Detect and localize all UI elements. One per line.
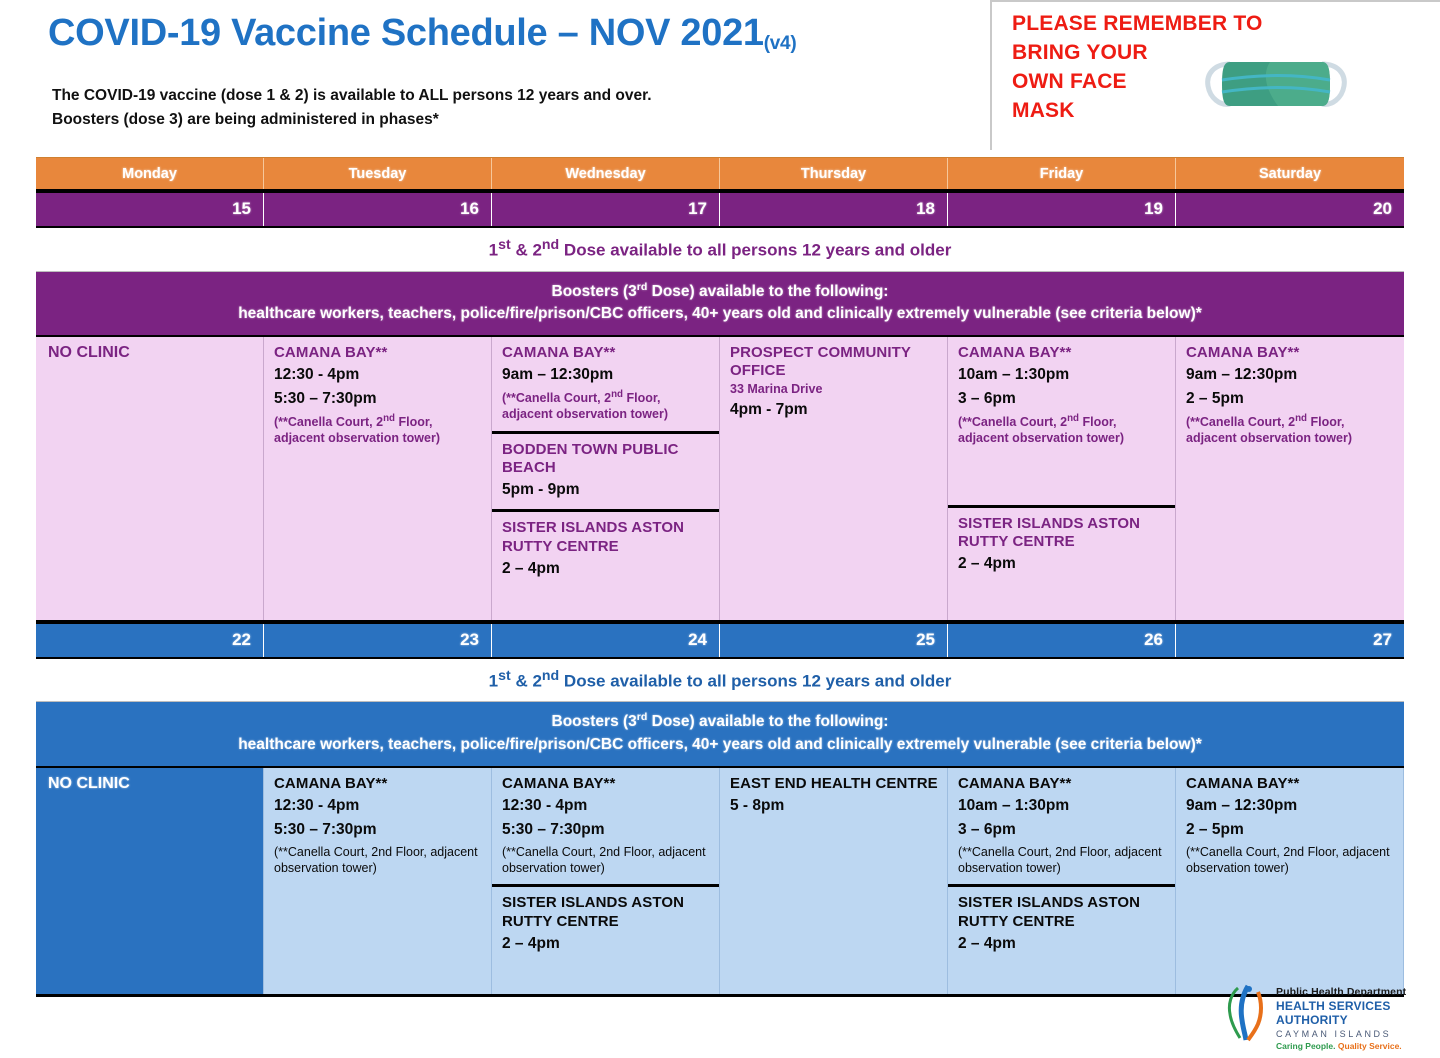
schedule-cell-tue-23[interactable]: CAMANA BAY** 12:30 - 4pm 5:30 – 7:30pm (… [264, 768, 492, 994]
clinic-venue: SISTER ISLANDS ASTON RUTTY CENTRE [502, 519, 710, 556]
schedule-cell-sat-27[interactable]: CAMANA BAY** 9am – 12:30pm 2 – 5pm (**Ca… [1176, 768, 1404, 994]
clinic-note: (**Canella Court, 2nd Floor, adjacent ob… [502, 844, 710, 877]
date-cell-25[interactable]: 25 [720, 624, 948, 657]
hsa-logo-line-1: Public Health Department [1276, 986, 1418, 998]
week-1-date-row: 15 16 17 18 19 20 [36, 189, 1404, 226]
clinic-venue: CAMANA BAY** [958, 344, 1166, 362]
week-2-booster-line-2: healthcare workers, teachers, police/fir… [46, 734, 1394, 756]
hsa-logo-text: Public Health Department HEALTH SERVICES… [1276, 986, 1418, 1051]
clinic-block: CAMANA BAY** 9am – 12:30pm 2 – 5pm (**Ca… [1176, 768, 1403, 994]
clinic-block: SISTER ISLANDS ASTON RUTTY CENTRE 2 – 4p… [948, 884, 1175, 993]
page-title-version: (v4) [764, 33, 797, 54]
clinic-venue: CAMANA BAY** [274, 344, 482, 362]
clinic-time: 2 – 5pm [1186, 388, 1395, 410]
week-1-content-row: NO CLINIC CAMANA BAY** 12:30 - 4pm 5:30 … [36, 335, 1404, 620]
clinic-time: 2 – 4pm [958, 933, 1166, 955]
date-cell-19[interactable]: 19 [948, 193, 1176, 226]
clinic-venue: CAMANA BAY** [1186, 344, 1395, 362]
clinic-time: 12:30 - 4pm [274, 364, 482, 386]
clinic-venue: SISTER ISLANDS ASTON RUTTY CENTRE [958, 515, 1166, 552]
subtitle-line-2: Boosters (dose 3) are being administered… [52, 108, 652, 132]
clinic-note: (**Canella Court, 2nd Floor, adjacent ob… [274, 844, 482, 877]
week-1-dose-banner: 1st & 2nd Dose available to all persons … [36, 226, 1404, 272]
clinic-note: (**Canella Court, 2nd Floor, adjacent ob… [958, 844, 1166, 877]
day-header-saturday: Saturday [1176, 158, 1404, 189]
clinic-block: CAMANA BAY** 12:30 - 4pm 5:30 – 7:30pm (… [264, 337, 491, 620]
week-2-content-row: NO CLINIC CAMANA BAY** 12:30 - 4pm 5:30 … [36, 766, 1404, 994]
week-1-booster-banner: Boosters (3rd Dose) available to the fol… [36, 272, 1404, 335]
clinic-note: (**Canella Court, 2nd Floor, adjacent ob… [274, 413, 482, 447]
day-header-friday: Friday [948, 158, 1176, 189]
schedule-cell-wed-17[interactable]: CAMANA BAY** 9am – 12:30pm (**Canella Co… [492, 337, 720, 620]
week-1-booster-line-2: healthcare workers, teachers, police/fir… [46, 303, 1394, 325]
page-subtitle: The COVID-19 vaccine (dose 1 & 2) is ava… [52, 84, 652, 132]
clinic-time: 5:30 – 7:30pm [274, 819, 482, 841]
clinic-time: 4pm - 7pm [730, 399, 938, 421]
clinic-block: CAMANA BAY** 12:30 - 4pm 5:30 – 7:30pm (… [264, 768, 491, 994]
schedule-cell-fri-26[interactable]: CAMANA BAY** 10am – 1:30pm 3 – 6pm (**Ca… [948, 768, 1176, 994]
clinic-block: SISTER ISLANDS ASTON RUTTY CENTRE 2 – 4p… [492, 884, 719, 993]
clinic-time: 10am – 1:30pm [958, 364, 1166, 386]
page-title: COVID-19 Vaccine Schedule – NOV 2021(v4) [48, 12, 796, 55]
hsa-logo-line-3: CAYMAN ISLANDS [1276, 1029, 1418, 1039]
date-cell-22[interactable]: 22 [36, 624, 264, 657]
date-cell-20[interactable]: 20 [1176, 193, 1404, 226]
no-clinic-label: NO CLINIC [36, 768, 263, 801]
clinic-venue: CAMANA BAY** [274, 775, 482, 793]
clinic-time: 3 – 6pm [958, 819, 1166, 841]
week-1: 15 16 17 18 19 20 1st & 2nd Dose availab… [36, 189, 1404, 620]
week-2-dose-banner: 1st & 2nd Dose available to all persons … [36, 657, 1404, 703]
hsa-tagline-part-2: Quality Service. [1338, 1041, 1402, 1051]
schedule-cell-mon-22[interactable]: NO CLINIC [36, 768, 264, 994]
hsa-logo-tagline: Caring People. Quality Service. [1276, 1041, 1418, 1051]
mask-reminder-box: PLEASE REMEMBER TO BRING YOUR OWN FACE M… [990, 0, 1440, 150]
clinic-time: 2 – 4pm [502, 558, 710, 580]
clinic-venue: PROSPECT COMMUNITY OFFICE [730, 344, 938, 381]
clinic-block: PROSPECT COMMUNITY OFFICE 33 Marina Driv… [720, 337, 947, 620]
schedule-cell-wed-24[interactable]: CAMANA BAY** 12:30 - 4pm 5:30 – 7:30pm (… [492, 768, 720, 994]
clinic-venue: BODDEN TOWN PUBLIC BEACH [502, 441, 710, 478]
clinic-venue: SISTER ISLANDS ASTON RUTTY CENTRE [502, 894, 710, 931]
calendar-day-header-row: Monday Tuesday Wednesday Thursday Friday… [36, 157, 1404, 189]
clinic-venue: EAST END HEALTH CENTRE [730, 775, 938, 793]
clinic-time: 2 – 4pm [958, 553, 1166, 575]
clinic-venue: CAMANA BAY** [502, 344, 710, 362]
schedule-cell-thu-18[interactable]: PROSPECT COMMUNITY OFFICE 33 Marina Driv… [720, 337, 948, 620]
clinic-note: (**Canella Court, 2nd Floor, adjacent ob… [502, 389, 710, 423]
clinic-venue: CAMANA BAY** [958, 775, 1166, 793]
page-title-main: COVID-19 Vaccine Schedule – NOV 2021 [48, 12, 764, 54]
clinic-block: EAST END HEALTH CENTRE 5 - 8pm [720, 768, 947, 994]
clinic-time: 2 – 4pm [502, 933, 710, 955]
clinic-time: 9am – 12:30pm [1186, 795, 1394, 817]
clinic-time: 2 – 5pm [1186, 819, 1394, 841]
clinic-time: 5:30 – 7:30pm [502, 819, 710, 841]
schedule-cell-thu-25[interactable]: EAST END HEALTH CENTRE 5 - 8pm [720, 768, 948, 994]
week-2-booster-line-1: Boosters (3rd Dose) available to the fol… [46, 710, 1394, 734]
mask-reminder-line-1: PLEASE REMEMBER TO [1012, 10, 1263, 39]
clinic-time: 12:30 - 4pm [502, 795, 710, 817]
week-2-date-row: 22 23 24 25 26 27 [36, 620, 1404, 657]
week-2: 22 23 24 25 26 27 1st & 2nd Dose availab… [36, 620, 1404, 997]
clinic-time: 5pm - 9pm [502, 479, 710, 501]
clinic-time: 9am – 12:30pm [1186, 364, 1395, 386]
clinic-time: 10am – 1:30pm [958, 795, 1166, 817]
hsa-figure-logo-icon [1218, 984, 1274, 1044]
date-cell-24[interactable]: 24 [492, 624, 720, 657]
week-2-booster-banner: Boosters (3rd Dose) available to the fol… [36, 702, 1404, 765]
clinic-venue: CAMANA BAY** [502, 775, 710, 793]
schedule-cell-fri-19[interactable]: CAMANA BAY** 10am – 1:30pm 3 – 6pm (**Ca… [948, 337, 1176, 620]
clinic-venue: CAMANA BAY** [1186, 775, 1394, 793]
date-cell-26[interactable]: 26 [948, 624, 1176, 657]
clinic-note: (**Canella Court, 2nd Floor, adjacent ob… [1186, 413, 1395, 447]
clinic-block: CAMANA BAY** 10am – 1:30pm 3 – 6pm (**Ca… [948, 768, 1175, 885]
clinic-block: BODDEN TOWN PUBLIC BEACH 5pm - 9pm [492, 431, 719, 510]
clinic-time: 5:30 – 7:30pm [274, 388, 482, 410]
vaccine-schedule-calendar: Monday Tuesday Wednesday Thursday Friday… [36, 157, 1404, 997]
clinic-block: SISTER ISLANDS ASTON RUTTY CENTRE 2 – 4p… [948, 505, 1175, 620]
clinic-block: CAMANA BAY** 12:30 - 4pm 5:30 – 7:30pm (… [492, 768, 719, 885]
clinic-block: CAMANA BAY** 10am – 1:30pm 3 – 6pm (**Ca… [948, 337, 1175, 505]
day-header-tuesday: Tuesday [264, 158, 492, 189]
hsa-logo: Public Health Department HEALTH SERVICES… [1218, 984, 1418, 1046]
clinic-time: 5 - 8pm [730, 795, 938, 817]
page-header: COVID-19 Vaccine Schedule – NOV 2021(v4)… [0, 0, 1440, 152]
day-header-monday: Monday [36, 158, 264, 189]
clinic-time: 12:30 - 4pm [274, 795, 482, 817]
hsa-logo-line-2: HEALTH SERVICES AUTHORITY [1276, 999, 1418, 1027]
clinic-address: 33 Marina Drive [730, 381, 938, 397]
date-cell-18[interactable]: 18 [720, 193, 948, 226]
date-cell-23[interactable]: 23 [264, 624, 492, 657]
hsa-tagline-part-1: Caring People. [1276, 1041, 1336, 1051]
clinic-block: CAMANA BAY** 9am – 12:30pm (**Canella Co… [492, 337, 719, 431]
clinic-note: (**Canella Court, 2nd Floor, adjacent ob… [958, 413, 1166, 447]
day-header-thursday: Thursday [720, 158, 948, 189]
date-cell-27[interactable]: 27 [1176, 624, 1404, 657]
schedule-cell-tue-16[interactable]: CAMANA BAY** 12:30 - 4pm 5:30 – 7:30pm (… [264, 337, 492, 620]
calendar-bottom-border [36, 994, 1404, 997]
clinic-block: CAMANA BAY** 9am – 12:30pm 2 – 5pm (**Ca… [1176, 337, 1404, 620]
clinic-note: (**Canella Court, 2nd Floor, adjacent ob… [1186, 844, 1394, 877]
date-cell-17[interactable]: 17 [492, 193, 720, 226]
schedule-cell-sat-20[interactable]: CAMANA BAY** 9am – 12:30pm 2 – 5pm (**Ca… [1176, 337, 1404, 620]
clinic-time: 3 – 6pm [958, 388, 1166, 410]
face-mask-icon [1200, 50, 1352, 118]
date-cell-15[interactable]: 15 [36, 193, 264, 226]
clinic-time: 9am – 12:30pm [502, 364, 710, 386]
week-1-booster-line-1: Boosters (3rd Dose) available to the fol… [46, 280, 1394, 304]
no-clinic-label: NO CLINIC [36, 337, 263, 370]
clinic-venue: SISTER ISLANDS ASTON RUTTY CENTRE [958, 894, 1166, 931]
date-cell-16[interactable]: 16 [264, 193, 492, 226]
day-header-wednesday: Wednesday [492, 158, 720, 189]
schedule-cell-mon-15[interactable]: NO CLINIC [36, 337, 264, 620]
subtitle-line-1: The COVID-19 vaccine (dose 1 & 2) is ava… [52, 84, 652, 108]
clinic-block: SISTER ISLANDS ASTON RUTTY CENTRE 2 – 4p… [492, 509, 719, 619]
